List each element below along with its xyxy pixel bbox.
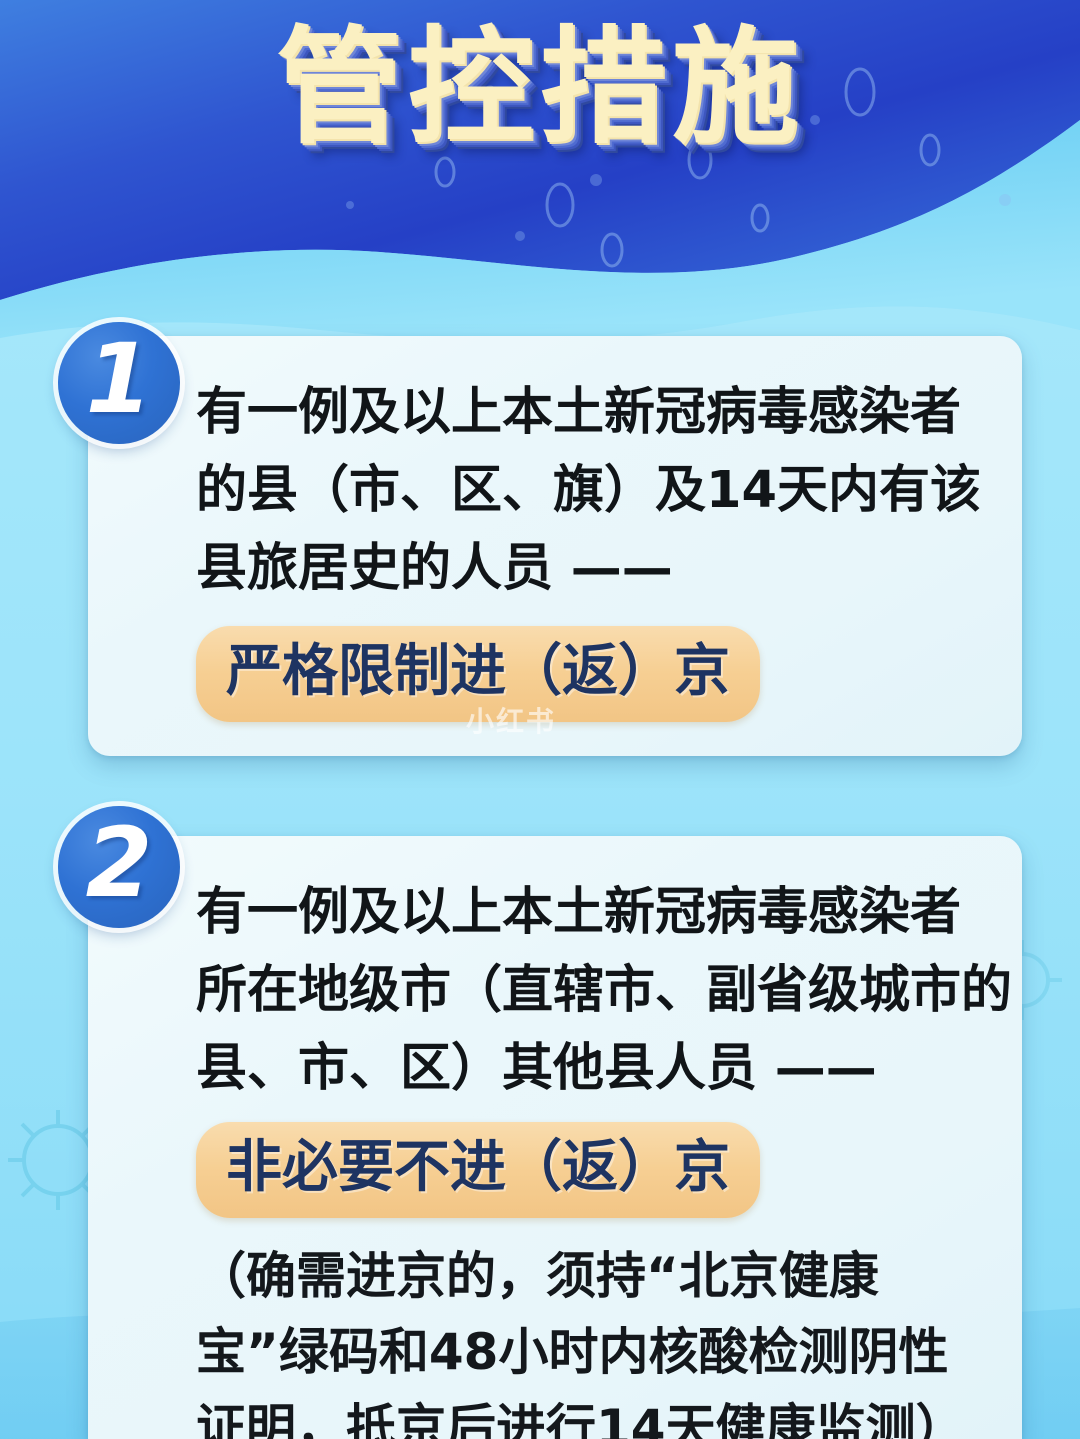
card-2-line-2: 所在地级市（直辖市、副省级城市的 bbox=[196, 952, 988, 1030]
watermark-label: 小红书 bbox=[466, 700, 556, 740]
card-2-line-3: 县、市、区）其他县人员 —— bbox=[196, 1030, 988, 1108]
card-1-line-1: 有一例及以上本土新冠病毒感染者 bbox=[196, 374, 988, 452]
measure-card-2: 有一例及以上本土新冠病毒感染者 所在地级市（直辖市、副省级城市的 县、市、区）其… bbox=[88, 836, 1022, 1439]
card-2-note-line-3: 证明，抵京后进行14天健康监测） bbox=[196, 1390, 988, 1439]
card-1-line-2: 的县（市、区、旗）及14天内有该 bbox=[196, 452, 988, 530]
card-2-highlight-pill: 非必要不进（返）京 bbox=[196, 1122, 760, 1218]
card-2-highlight-text: 非必要不进（返）京 bbox=[226, 1135, 730, 1200]
card-1-body: 有一例及以上本土新冠病毒感染者 的县（市、区、旗）及14天内有该 县旅居史的人员… bbox=[196, 374, 988, 722]
page-title: 管控措施 bbox=[276, 25, 804, 151]
measure-card-1: 有一例及以上本土新冠病毒感染者 的县（市、区、旗）及14天内有该 县旅居史的人员… bbox=[88, 336, 1022, 756]
card-1-number: 1 bbox=[86, 331, 153, 427]
poster-title-bar: 管控措施 bbox=[0, 0, 1080, 175]
card-1-number-badge: 1 bbox=[58, 322, 180, 444]
card-2-note: （确需进京的，须持“北京健康 宝”绿码和48小时内核酸检测阴性 证明，抵京后进行… bbox=[196, 1238, 988, 1439]
card-1-highlight-text: 严格限制进（返）京 bbox=[226, 639, 730, 704]
card-2-note-line-1: （确需进京的，须持“北京健康 bbox=[196, 1238, 988, 1314]
card-2-body: 有一例及以上本土新冠病毒感染者 所在地级市（直辖市、副省级城市的 县、市、区）其… bbox=[196, 874, 988, 1439]
card-1-highlight-row: 严格限制进（返）京 bbox=[196, 626, 988, 722]
card-2-line-1: 有一例及以上本土新冠病毒感染者 bbox=[196, 874, 988, 952]
card-2-note-line-2: 宝”绿码和48小时内核酸检测阴性 bbox=[196, 1314, 988, 1390]
card-2-number: 2 bbox=[86, 815, 153, 911]
card-2-number-badge: 2 bbox=[58, 806, 180, 928]
card-1-line-3: 县旅居史的人员 —— bbox=[196, 530, 988, 608]
card-2-highlight-row: 非必要不进（返）京 bbox=[196, 1122, 988, 1218]
poster-root: 管控措施 有一例及以上本土新冠病毒感染者 的县（市、区、旗）及14天内有该 县旅… bbox=[0, 0, 1080, 1439]
